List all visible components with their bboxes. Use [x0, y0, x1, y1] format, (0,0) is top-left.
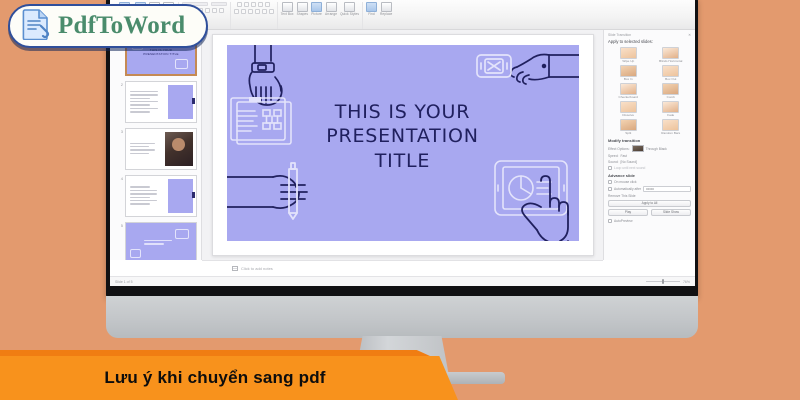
transition-option[interactable]: Blinds Horizontal	[651, 47, 692, 63]
transition-label: Split	[625, 132, 631, 135]
pointing-hand-icon	[497, 163, 577, 241]
loop-checkbox[interactable]: Loop until next sound	[608, 166, 691, 170]
effect-options-label: Effect Options:	[608, 147, 630, 151]
transition-label: Random Bars	[661, 132, 680, 135]
thumbnail-number: 4	[118, 175, 125, 181]
taskpane-header: Slide Transition ✕	[608, 33, 691, 37]
apply-to-selected-label: Apply to selected slides:	[608, 39, 691, 44]
ribbon-item-label: Find	[368, 13, 375, 16]
transition-thumb	[620, 83, 637, 95]
slide-background: THIS IS YOUR PRESENTATION TITLE	[227, 45, 579, 241]
transition-thumb	[620, 119, 637, 131]
thumbnail-number: 5	[118, 222, 125, 228]
sound-label: Sound:	[608, 160, 618, 164]
screenshot-stage: New Slide Layout Reset Section	[0, 0, 800, 400]
zoom-slider[interactable]: 76%	[646, 280, 690, 284]
transition-thumb	[620, 47, 637, 59]
transition-label: Checkerboard	[619, 96, 638, 99]
transition-label: Box Out	[665, 78, 676, 81]
transition-option[interactable]: Random Bars	[651, 119, 692, 135]
ribbon-replace-button[interactable]: Replace	[380, 2, 392, 16]
thumbnail-glyph-icon	[175, 59, 189, 69]
brand-logo[interactable]: PdfToWord	[8, 4, 208, 48]
advance-slide-heading: Advance slide	[608, 173, 691, 178]
sound-row[interactable]: Sound: [No Sound]	[608, 160, 691, 164]
brand-name: PdfToWord	[58, 12, 185, 40]
automatically-after-row[interactable]: Automatically after 00:00	[608, 186, 691, 192]
transition-label: Box In	[624, 78, 633, 81]
transition-thumb	[662, 101, 679, 113]
play-button[interactable]: Play	[608, 209, 648, 216]
thumbnail-accent	[192, 98, 195, 104]
ribbon-picture-button[interactable]: Picture	[311, 2, 322, 16]
picture-icon	[311, 2, 322, 12]
on-mouse-click-checkbox[interactable]: On mouse click	[608, 180, 691, 184]
numbering-icon[interactable]	[244, 2, 249, 7]
autopreview-checkbox[interactable]: AutoPreview	[608, 219, 691, 223]
transition-option[interactable]: Box Out	[651, 65, 692, 81]
ribbon-item-label: Shapes	[297, 13, 308, 16]
font-color-icon[interactable]	[212, 8, 217, 13]
bullets-icon[interactable]	[237, 2, 242, 7]
transition-option[interactable]: Wipe Up	[608, 47, 649, 63]
decrease-indent-icon[interactable]	[251, 2, 256, 7]
slide-counter: Slide 1 of 5	[115, 280, 133, 284]
hand-holding-remote-icon	[473, 49, 579, 101]
slide-transition-pane[interactable]: Slide Transition ✕ Apply to selected sli…	[603, 30, 695, 260]
smartart-icon[interactable]	[269, 9, 274, 14]
thumbnail-slide-4[interactable]	[125, 175, 197, 217]
thumbnail-text-lines	[130, 91, 164, 115]
transition-label: Fade	[667, 114, 674, 117]
banner-accent-strip	[0, 350, 430, 356]
caption-text: Lưu ý khi chuyển sang pdf	[104, 368, 343, 388]
remove-slide-label[interactable]: Remove This Slide	[608, 194, 691, 198]
ribbon-item-label: Replace	[380, 13, 392, 16]
align-right-icon[interactable]	[248, 9, 253, 14]
find-icon	[366, 2, 377, 12]
thumbnail-photo	[165, 132, 193, 166]
sound-value: [No Sound]	[620, 160, 637, 164]
replace-icon	[381, 2, 392, 12]
line-spacing-icon[interactable]	[265, 2, 270, 7]
loop-label: Loop until next sound	[614, 166, 645, 170]
thumbnail-slide-5[interactable]	[125, 222, 197, 260]
thumbnail-text-lines	[144, 240, 178, 247]
transition-option[interactable]: Dissolve	[608, 101, 649, 117]
auto-time-input[interactable]: 00:00	[643, 186, 691, 192]
transition-label: Dissolve	[622, 114, 634, 117]
checkbox-icon[interactable]	[608, 187, 612, 191]
notes-pane[interactable]: Click to add notes	[202, 260, 603, 276]
text-shadow-icon[interactable]	[205, 8, 210, 13]
clear-format-icon[interactable]	[219, 8, 224, 13]
transition-label: Blinds Horizontal	[659, 60, 682, 63]
ribbon-group-paragraph	[231, 2, 278, 29]
transition-thumb	[662, 65, 679, 77]
transition-option[interactable]: Checkerboard	[608, 83, 649, 99]
transition-option[interactable]: Fade	[651, 101, 692, 117]
transition-gallery[interactable]: Wipe Up Blinds Horizontal Box In Box Out	[608, 47, 691, 135]
ribbon-text-box-button[interactable]: Text Box	[281, 2, 294, 16]
transition-thumb	[662, 119, 679, 131]
ribbon-shapes-button[interactable]: Shapes	[297, 2, 308, 16]
thumbnail-glyph-icon	[130, 249, 141, 258]
text-box-icon	[282, 2, 293, 12]
thumbnail-text-lines	[130, 186, 162, 206]
justify-icon[interactable]	[255, 9, 260, 14]
monitor-chin	[106, 296, 698, 338]
ribbon-quick-styles-button[interactable]: Quick Styles	[340, 2, 359, 16]
slideshow-button[interactable]: Slide Show	[651, 209, 691, 216]
transition-thumb	[620, 101, 637, 113]
thumbnail-number: 3	[118, 128, 125, 134]
thumbnail-item[interactable]: 2	[118, 81, 198, 123]
arrange-icon	[326, 2, 337, 12]
effect-options-row[interactable]: Effect Options: Through Black	[608, 145, 691, 152]
ribbon-group-editing: Find Replace	[363, 2, 395, 29]
transition-option[interactable]: Comb	[651, 83, 692, 99]
apply-to-all-button[interactable]: Apply to All	[608, 200, 691, 207]
status-bar: Slide 1 of 5 76%	[110, 276, 695, 286]
checkbox-icon[interactable]	[608, 219, 612, 223]
auto-time-value: 00:00	[646, 187, 654, 191]
ribbon-item-label: Quick Styles	[340, 13, 359, 16]
thumbnail-graphic-block	[168, 179, 193, 213]
ribbon-arrange-button[interactable]: Arrange	[325, 2, 337, 16]
transition-label: Wipe Up	[622, 60, 634, 63]
columns-icon[interactable]	[262, 9, 267, 14]
ribbon-item-label: Arrange	[325, 13, 337, 16]
thumbnail-title: THIS IS YOUR PRESENTATION TITLE	[139, 48, 183, 56]
align-left-icon[interactable]	[234, 9, 239, 14]
slide-editing-canvas[interactable]: THIS IS YOUR PRESENTATION TITLE	[202, 30, 603, 260]
quick-styles-icon	[344, 2, 355, 12]
speed-row[interactable]: Speed: Fast	[608, 154, 691, 158]
document-list-icon	[229, 97, 295, 147]
speed-value: Fast	[620, 154, 626, 158]
zoom-level: 76%	[683, 280, 690, 284]
thumbnail-item[interactable]: 5	[118, 222, 198, 260]
ribbon-find-button[interactable]: Find	[366, 2, 377, 16]
align-center-icon[interactable]	[241, 9, 246, 14]
transition-label: Comb	[667, 96, 675, 99]
current-slide[interactable]: THIS IS YOUR PRESENTATION TITLE	[212, 34, 594, 256]
on-click-label: On mouse click	[614, 180, 637, 184]
slide-title[interactable]: THIS IS YOUR PRESENTATION TITLE	[311, 100, 494, 173]
shapes-icon	[297, 2, 308, 12]
notes-placeholder: Click to add notes	[241, 266, 273, 271]
thumbnail-slide-2[interactable]	[125, 81, 197, 123]
effect-swatch-icon[interactable]	[632, 145, 644, 152]
speed-label: Speed:	[608, 154, 618, 158]
ribbon-item-label: Text Box	[281, 13, 294, 16]
transition-thumb	[620, 65, 637, 77]
modify-transition-heading: Modify transition	[608, 138, 691, 143]
notes-icon	[232, 266, 238, 271]
transition-option[interactable]: Box In	[608, 65, 649, 81]
close-icon[interactable]: ✕	[688, 33, 691, 37]
zoom-track-bar[interactable]	[646, 281, 680, 282]
checkbox-icon[interactable]	[608, 166, 612, 170]
ribbon-item-label: Picture	[311, 13, 322, 16]
thumbnail-graphic-block	[168, 85, 193, 119]
thumbnail-slide-3[interactable]	[125, 128, 197, 170]
thumbnail-accent	[192, 192, 195, 198]
thumbnail-text-lines	[130, 143, 161, 157]
thumbnail-item[interactable]: 3	[118, 128, 198, 170]
increase-indent-icon[interactable]	[258, 2, 263, 7]
ribbon-group-drawing: Text Box Shapes Picture Arrange	[278, 2, 363, 29]
taskpane-title: Slide Transition	[608, 33, 631, 37]
thumbnail-number: 2	[118, 81, 125, 87]
font-size-combo[interactable]	[211, 2, 227, 6]
thumbnail-glyph-icon	[175, 229, 189, 239]
auto-label: Automatically after	[614, 187, 641, 191]
effect-options-value: Through Black	[646, 147, 667, 151]
autopreview-label: AutoPreview	[614, 219, 633, 223]
thumbnail-item[interactable]: 4	[118, 175, 198, 217]
transition-thumb	[662, 47, 679, 59]
slide-thumbnail-pane[interactable]: 1 THIS IS YOUR PRESENTATION TITLE 2	[110, 30, 202, 260]
checkbox-icon[interactable]	[608, 180, 612, 184]
transition-thumb	[662, 83, 679, 95]
transition-option[interactable]: Split	[608, 119, 649, 135]
document-edit-icon	[22, 8, 50, 45]
caption-banner: Lưu ý khi chuyển sang pdf	[0, 356, 458, 400]
